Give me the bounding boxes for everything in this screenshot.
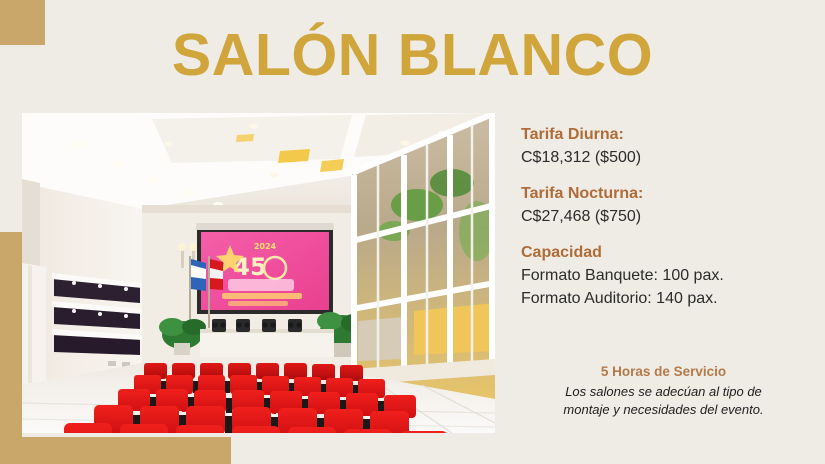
service-note: 5 Horas de Servicio Los salones se adecú… — [511, 362, 816, 419]
rate-night-label: Tarifa Nocturna: — [521, 183, 811, 205]
decoration-left-bar — [0, 232, 22, 464]
page-title: SALÓN BLANCO — [0, 22, 825, 88]
svg-text:2024: 2024 — [254, 242, 277, 251]
capacity-label: Capacidad — [521, 242, 811, 264]
capacity-banquet-value: Formato Banquete: 100 pax. — [521, 264, 811, 287]
spacer-1 — [521, 169, 811, 183]
rates-and-capacity-panel: Tarifa Diurna: C$18,312 ($500) Tarifa No… — [521, 124, 811, 310]
spacer-2 — [521, 228, 811, 242]
service-note-line1: Los salones se adecúan al tipo de — [511, 383, 816, 401]
capacity-auditorium-value: Formato Auditorio: 140 pax. — [521, 287, 811, 310]
decoration-bottom-bar — [0, 437, 231, 464]
rate-night-value: C$27,468 ($750) — [521, 205, 811, 228]
salon-blanco-auditorium-photo: 2024 45 — [22, 113, 495, 433]
service-hours-title: 5 Horas de Servicio — [511, 362, 816, 381]
rate-day-value: C$18,312 ($500) — [521, 146, 811, 169]
service-note-line2: montaje y necesidades del evento. — [511, 401, 816, 419]
slide-salon-blanco: SALÓN BLANCO — [0, 0, 825, 464]
rate-day-label: Tarifa Diurna: — [521, 124, 811, 146]
